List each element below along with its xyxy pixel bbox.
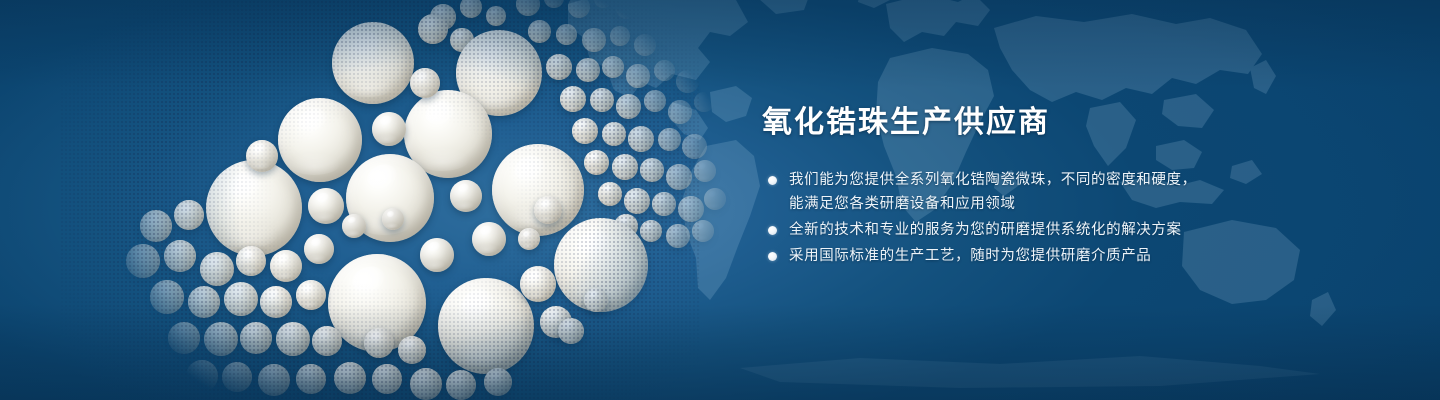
bullet-dot-icon <box>768 252 777 261</box>
banner-headline: 氧化锆珠生产供应商 <box>762 104 1362 142</box>
hero-banner: 氧化锆珠生产供应商 我们能为您提供全系列氧化锆陶瓷微珠，不同的密度和硬度， 能满… <box>0 0 1440 400</box>
bullet-item-1-line-2: 能满足您各类研磨设备和应用领域 <box>789 192 1362 216</box>
bullet-item-3: 采用国际标准的生产工艺，随时为您提供研磨介质产品 <box>762 244 1362 268</box>
banner-content: 氧化锆珠生产供应商 我们能为您提供全系列氧化锆陶瓷微珠，不同的密度和硬度， 能满… <box>762 104 1362 270</box>
bullet-item-1-line-1: 我们能为您提供全系列氧化锆陶瓷微珠，不同的密度和硬度， <box>789 168 1362 192</box>
bullet-dot-icon <box>768 176 777 185</box>
bullet-item-2-line-1: 全新的技术和专业的服务为您的研磨提供系统化的解决方案 <box>789 218 1362 242</box>
bullet-dot-icon <box>768 226 777 235</box>
bullet-item-1: 我们能为您提供全系列氧化锆陶瓷微珠，不同的密度和硬度， 能满足您各类研磨设备和应… <box>762 168 1362 216</box>
bullet-item-3-line-1: 采用国际标准的生产工艺，随时为您提供研磨介质产品 <box>789 244 1362 268</box>
bullet-item-2: 全新的技术和专业的服务为您的研磨提供系统化的解决方案 <box>762 218 1362 242</box>
banner-bullet-list: 我们能为您提供全系列氧化锆陶瓷微珠，不同的密度和硬度， 能满足您各类研磨设备和应… <box>762 168 1362 268</box>
